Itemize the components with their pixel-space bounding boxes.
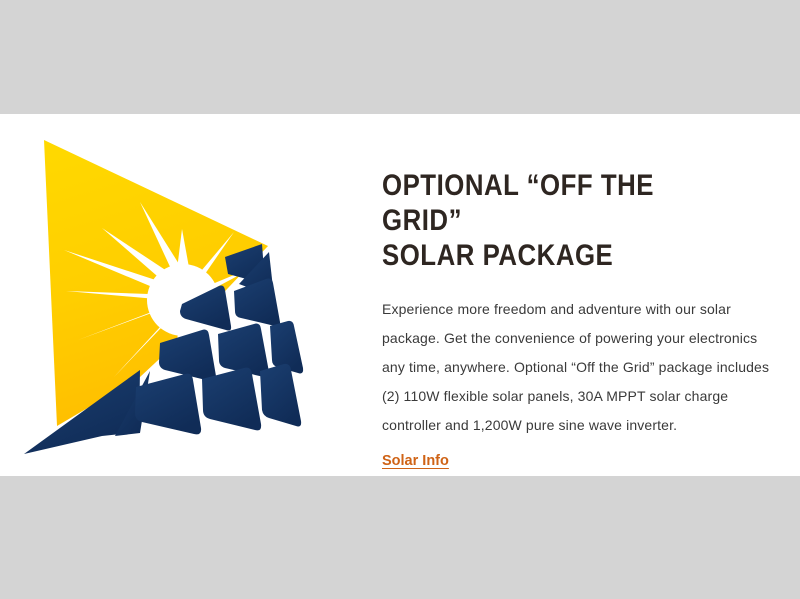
content-panel: OPTIONAL “OFF THE GRID” SOLAR PACKAGE Ex… xyxy=(0,114,800,476)
solar-logo xyxy=(22,134,342,459)
promo-description: Experience more freedom and adventure wi… xyxy=(382,273,778,440)
solar-info-link[interactable]: Solar Info xyxy=(382,453,449,469)
page-title: OPTIONAL “OFF THE GRID” SOLAR PACKAGE xyxy=(382,168,723,273)
letterbox-band-top xyxy=(0,0,800,114)
letterbox-band-bottom xyxy=(0,476,800,599)
promo-text-column: OPTIONAL “OFF THE GRID” SOLAR PACKAGE Ex… xyxy=(382,168,778,470)
promo-banner: OPTIONAL “OFF THE GRID” SOLAR PACKAGE Ex… xyxy=(0,0,800,599)
